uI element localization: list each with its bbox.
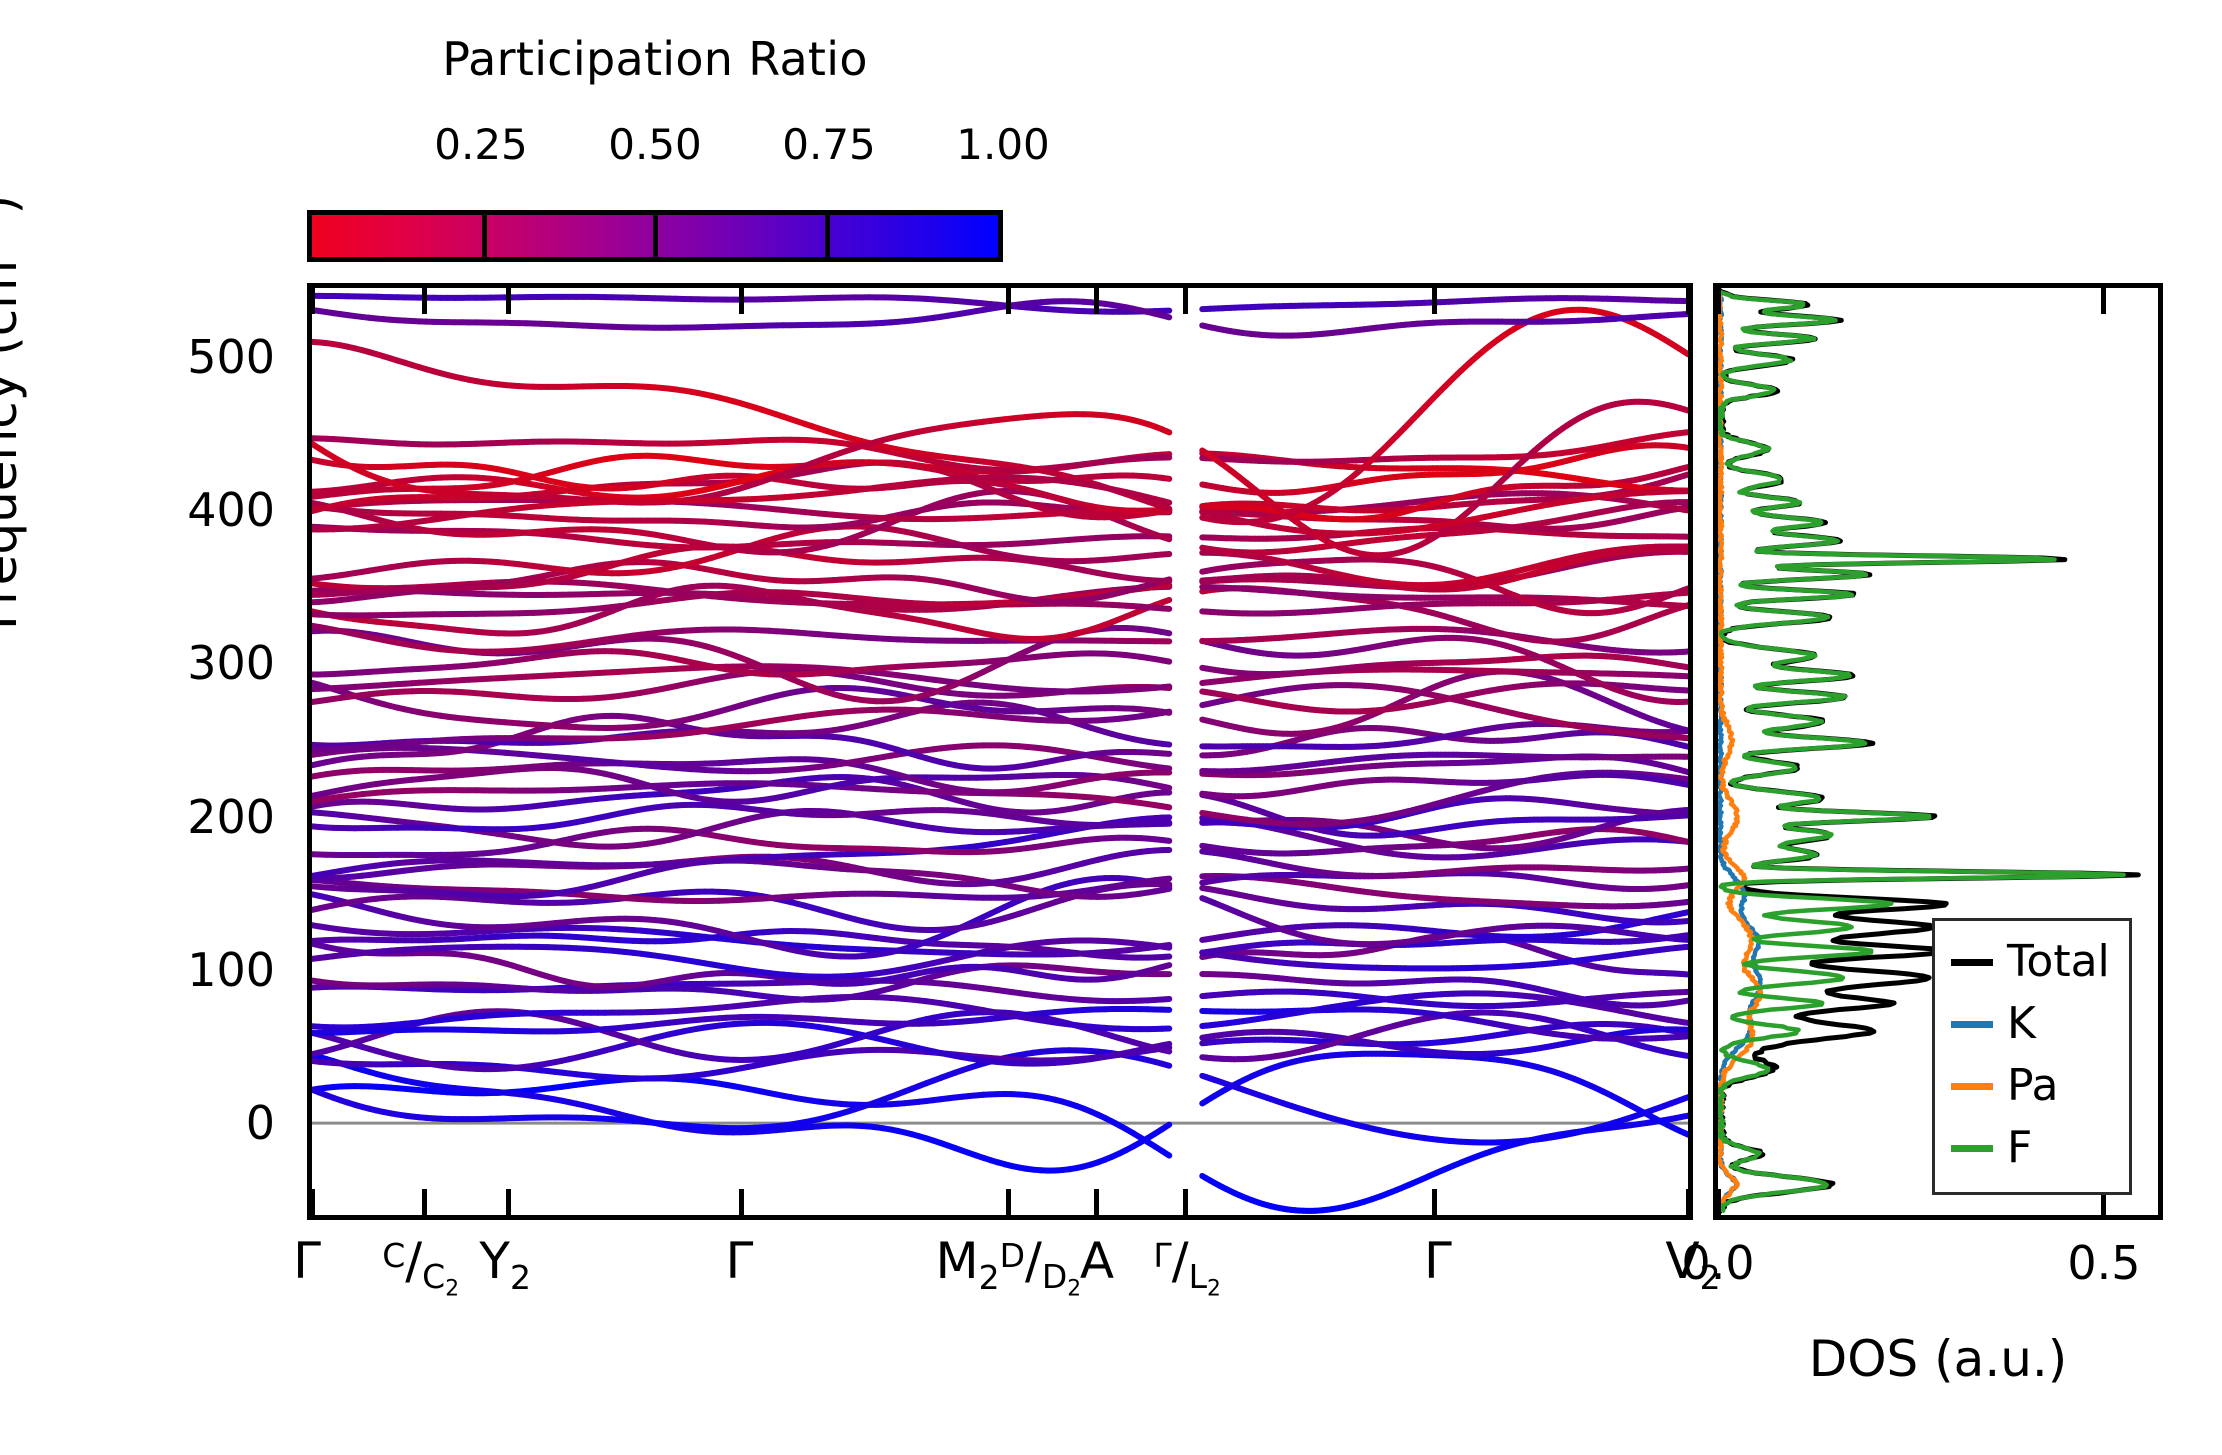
phonon-band-structure-panel[interactable] <box>307 283 1693 1220</box>
band-segment <box>1684 1116 1688 1117</box>
band-segment <box>1162 945 1169 946</box>
colorbar-tick-label: 1.00 <box>956 120 1050 169</box>
ytick-label: 400 <box>187 483 275 537</box>
colorbar-tick-label: 0.25 <box>434 120 528 169</box>
colorbar-tick-label: 0.50 <box>608 120 702 169</box>
band-segment <box>1684 1097 1688 1098</box>
band-segment <box>1162 879 1169 880</box>
band-segment <box>1162 999 1169 1000</box>
colorbar-tick-label: 0.75 <box>782 120 876 169</box>
ytick-label: 500 <box>187 330 275 384</box>
band-segment <box>1162 1050 1169 1052</box>
ytick-label: 0 <box>246 1096 275 1150</box>
colorbar-title: Participation Ratio <box>307 32 1003 86</box>
band-segment <box>1684 1055 1688 1056</box>
colorbar-tick-mark <box>482 215 487 257</box>
ytick-label: 300 <box>187 636 275 690</box>
y-axis-tick-labels: 0100200300400500 <box>55 283 287 1220</box>
band-segment <box>1684 1001 1688 1002</box>
ytick-label: 100 <box>187 943 275 997</box>
band-segment <box>1162 1064 1169 1066</box>
band-segment <box>1684 1133 1688 1135</box>
colorbar-tick-mark <box>825 215 830 257</box>
y-axis-exponent: −1 <box>0 214 6 260</box>
ytick-label: 200 <box>187 790 275 844</box>
y-axis-title: Frequency (cm−1) <box>0 195 28 630</box>
band-segment <box>1162 889 1169 890</box>
band-structure-plot <box>312 288 1688 1215</box>
colorbar-tick-labels: 0.250.500.751.00 <box>307 120 1003 164</box>
band-segment <box>1684 885 1688 886</box>
band-segment <box>1162 1151 1169 1156</box>
band-segment <box>1162 1044 1169 1045</box>
colorbar-tick-mark <box>653 215 658 257</box>
band-segment <box>1162 965 1169 967</box>
band-segment <box>1684 1022 1688 1023</box>
band-segment <box>1684 935 1688 936</box>
band-segment <box>1162 956 1169 957</box>
band-segment <box>1162 840 1169 841</box>
band-segment <box>1162 1125 1169 1130</box>
colorbar <box>307 210 1003 262</box>
band-segment <box>1684 912 1688 913</box>
